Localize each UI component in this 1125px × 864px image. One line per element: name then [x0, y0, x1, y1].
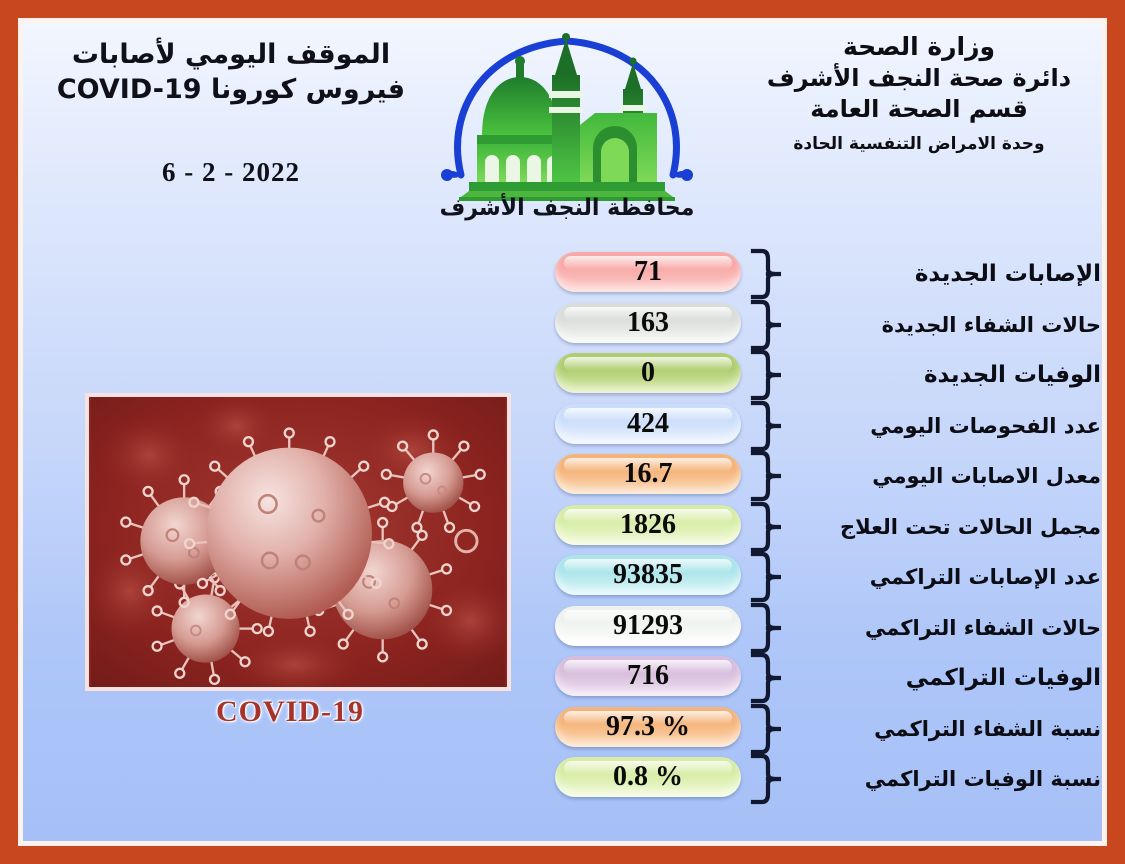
stat-value-new-deaths: 0	[641, 359, 655, 387]
stat-pill-cumulative-recoveries[interactable]: 91293	[555, 606, 741, 646]
covid-image-caption: COVID-19	[65, 695, 515, 729]
stat-pill-new-deaths[interactable]: 0	[555, 353, 741, 393]
stat-label-active-cases: مجمل الحالات تحت العلاج	[809, 502, 1101, 553]
stat-pill-daily-tests[interactable]: 424	[555, 404, 741, 444]
covid-image-block: COVID-19	[65, 373, 515, 718]
page-title-line1: الموقف اليومي لأصابات	[45, 37, 417, 72]
virus-illustration-icon	[89, 397, 507, 687]
stat-label-cumulative-recovery-rate: نسبة الشفاء التراكمي	[809, 704, 1101, 755]
page-title-line2: فيروس كورونا COVID-19	[45, 72, 417, 107]
unit-name: وحدة الامراض التنفسية الحادة	[754, 133, 1084, 155]
poster-canvas: وزارة الصحة دائرة صحة النجف الأشرف قسم ا…	[23, 23, 1102, 841]
report-date: 6 - 2 - 2022	[45, 157, 417, 188]
stat-label-cumulative-cases: عدد الإصابات التراكمي	[809, 552, 1101, 603]
department-name: قسم الصحة العامة	[754, 94, 1084, 125]
stat-label-new-deaths: الوفيات الجديدة	[809, 350, 1101, 401]
brace-icon	[747, 551, 781, 603]
stat-pill-new-recoveries[interactable]: 163	[555, 303, 741, 343]
stat-pill-cumulative-deaths[interactable]: 716	[555, 656, 741, 696]
brace-icon	[747, 400, 781, 452]
brace-icon	[747, 703, 781, 755]
stat-label-daily-infection-rate: معدل الاصابات اليومي	[809, 451, 1101, 502]
stat-value-daily-infection-rate: 16.7	[624, 460, 673, 488]
stat-label-new-cases: الإصابات الجديدة	[809, 249, 1101, 300]
poster-inner-border: وزارة الصحة دائرة صحة النجف الأشرف قسم ا…	[18, 18, 1107, 846]
coronavirus-image	[85, 393, 511, 691]
brace-icon	[747, 248, 781, 300]
stat-value-cumulative-recoveries: 91293	[613, 612, 683, 640]
poster-title-block: الموقف اليومي لأصابات فيروس كورونا COVID…	[45, 37, 417, 188]
stat-row: 0الوفيات الجديدة	[547, 350, 1102, 401]
stat-value-new-cases: 71	[634, 258, 662, 286]
directorate-name: دائرة صحة النجف الأشرف	[754, 63, 1084, 94]
stat-row: 163حالات الشفاء الجديدة	[547, 300, 1102, 351]
stat-value-new-recoveries: 163	[627, 309, 669, 337]
stat-pill-cumulative-cases[interactable]: 93835	[555, 555, 741, 595]
stat-row: 16.7معدل الاصابات اليومي	[547, 451, 1102, 502]
stat-row: 93835عدد الإصابات التراكمي	[547, 552, 1102, 603]
stat-label-new-recoveries: حالات الشفاء الجديدة	[809, 300, 1101, 351]
stat-row: 1826مجمل الحالات تحت العلاج	[547, 502, 1102, 553]
stat-row: 71الإصابات الجديدة	[547, 249, 1102, 300]
ministry-header: وزارة الصحة دائرة صحة النجف الأشرف قسم ا…	[754, 31, 1084, 156]
stat-label-cumulative-recoveries: حالات الشفاء التراكمي	[809, 603, 1101, 654]
brace-icon	[747, 602, 781, 654]
brace-icon	[747, 753, 781, 805]
stat-label-cumulative-deaths: الوفيات التراكمي	[809, 653, 1101, 704]
brace-icon	[747, 652, 781, 704]
stat-pill-cumulative-recovery-rate[interactable]: 97.3 %	[555, 707, 741, 747]
stat-value-cumulative-recovery-rate: 97.3 %	[606, 713, 690, 741]
stat-pill-active-cases[interactable]: 1826	[555, 505, 741, 545]
stat-pill-cumulative-death-rate[interactable]: 0.8 %	[555, 757, 741, 797]
stat-row: 91293حالات الشفاء التراكمي	[547, 603, 1102, 654]
najaf-governorate-logo: محافظة النجف الأشرف	[427, 27, 707, 227]
brace-icon	[747, 501, 781, 553]
stat-pill-new-cases[interactable]: 71	[555, 252, 741, 292]
stat-label-cumulative-death-rate: نسبة الوفيات التراكمي	[809, 754, 1101, 805]
stat-label-daily-tests: عدد الفحوصات اليومي	[809, 401, 1101, 452]
statistics-list: 71الإصابات الجديدة163حالات الشفاء الجديد…	[547, 249, 1102, 805]
stat-value-active-cases: 1826	[620, 511, 676, 539]
brace-icon	[747, 349, 781, 401]
stat-pill-daily-infection-rate[interactable]: 16.7	[555, 454, 741, 494]
ministry-name: وزارة الصحة	[754, 31, 1084, 63]
stat-value-daily-tests: 424	[627, 410, 669, 438]
poster-frame: وزارة الصحة دائرة صحة النجف الأشرف قسم ا…	[0, 0, 1125, 864]
stat-row: 0.8 %نسبة الوفيات التراكمي	[547, 754, 1102, 805]
logo-calligraphy: محافظة النجف الأشرف	[433, 195, 702, 221]
stat-row: 716الوفيات التراكمي	[547, 653, 1102, 704]
stat-row: 97.3 %نسبة الشفاء التراكمي	[547, 704, 1102, 755]
stat-value-cumulative-cases: 93835	[613, 561, 683, 589]
stat-value-cumulative-deaths: 716	[627, 662, 669, 690]
stat-value-cumulative-death-rate: 0.8 %	[613, 763, 683, 791]
brace-icon	[747, 299, 781, 351]
stat-row: 424عدد الفحوصات اليومي	[547, 401, 1102, 452]
brace-icon	[747, 450, 781, 502]
